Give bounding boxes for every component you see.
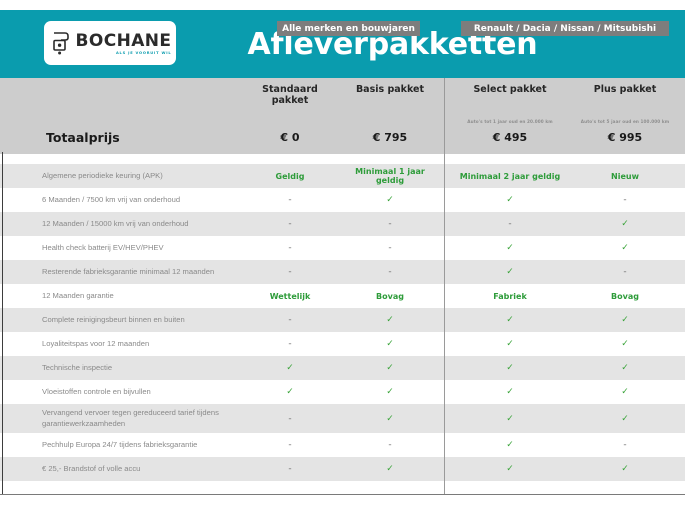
column-price: € 995: [574, 131, 676, 144]
check-icon: ✓: [455, 387, 565, 397]
table-row: Vloeistoffen controle en bijvullen✓✓✓✓: [0, 380, 685, 404]
row-label: Health check batterij EV/HEV/PHEV: [42, 243, 242, 253]
column-header-basis: Basis pakket € 795: [344, 78, 436, 154]
check-icon: ✓: [455, 339, 565, 349]
check-icon: ✓: [344, 195, 436, 205]
table-row: 12 Maanden / 15000 km vrij van onderhoud…: [0, 212, 685, 236]
table-row: € 25,- Brandstof of volle accu-✓✓✓: [0, 457, 685, 481]
dash-icon: -: [344, 440, 436, 450]
row-label: Vloeistoffen controle en bijvullen: [42, 387, 242, 397]
row-value: Wettelijk: [244, 292, 336, 301]
check-icon: ✓: [344, 363, 436, 373]
check-icon: ✓: [574, 387, 676, 397]
bochane-mark-icon: [51, 30, 71, 56]
row-label: Technische inspectie: [42, 363, 242, 373]
poster-root: BOCHANE ALS JE VOORUIT WIL Afleverpakket…: [0, 0, 685, 514]
group-divider: [444, 78, 445, 494]
column-price: € 495: [455, 131, 565, 144]
dash-icon: -: [574, 195, 676, 205]
dash-icon: -: [244, 464, 336, 474]
dash-icon: -: [344, 243, 436, 253]
check-icon: ✓: [574, 464, 676, 474]
brand-scope-all-makes: Alle merken en bouwjaren: [277, 21, 420, 36]
check-icon: ✓: [344, 339, 436, 349]
check-icon: ✓: [455, 267, 565, 277]
column-title: Basis pakket: [344, 84, 436, 95]
check-icon: ✓: [455, 195, 565, 205]
table-row: Resterende fabrieksgarantie minimaal 12 …: [0, 260, 685, 284]
table-row: Health check batterij EV/HEV/PHEV--✓✓: [0, 236, 685, 260]
column-header-plus: Plus pakket Auto's tot 5 jaar oud en 100…: [574, 78, 676, 154]
row-label: Loyaliteitspas voor 12 maanden: [42, 339, 242, 349]
row-label: 12 Maanden / 15000 km vrij van onderhoud: [42, 219, 242, 229]
table-row: Technische inspectie✓✓✓✓: [0, 356, 685, 380]
row-value: Nieuw: [574, 172, 676, 181]
check-icon: ✓: [574, 339, 676, 349]
bochane-logo: BOCHANE ALS JE VOORUIT WIL: [44, 21, 176, 65]
row-value: Minimaal 2 jaar geldig: [455, 172, 565, 181]
row-label: Complete reinigingsbeurt binnen en buite…: [42, 315, 242, 325]
check-icon: ✓: [574, 315, 676, 325]
check-icon: ✓: [455, 464, 565, 474]
table-row: Algemene periodieke keuring (APK)GeldigM…: [0, 164, 685, 188]
column-title: Plus pakket: [574, 84, 676, 95]
dash-icon: -: [244, 267, 336, 277]
table-bottom-spacer: [0, 481, 685, 504]
table-row: Loyaliteitspas voor 12 maanden-✓✓✓: [0, 332, 685, 356]
column-subtitle: Auto's tot 5 jaar oud en 100.000 km: [574, 119, 676, 124]
row-label: Vervangend vervoer tegen gereduceerd tar…: [42, 408, 242, 429]
column-price: € 0: [244, 131, 336, 144]
dash-icon: -: [244, 440, 336, 450]
check-icon: ✓: [455, 414, 565, 424]
table-row: Pechhulp Europa 24/7 tijdens fabrieksgar…: [0, 433, 685, 457]
row-label: 12 Maanden garantie: [42, 291, 242, 301]
table-row: Complete reinigingsbeurt binnen en buite…: [0, 308, 685, 332]
dash-icon: -: [344, 219, 436, 229]
check-icon: ✓: [574, 363, 676, 373]
check-icon: ✓: [455, 243, 565, 253]
check-icon: ✓: [574, 243, 676, 253]
dash-icon: -: [574, 440, 676, 450]
dash-icon: -: [455, 219, 565, 229]
dash-icon: -: [244, 414, 336, 424]
dash-icon: -: [574, 267, 676, 277]
check-icon: ✓: [344, 315, 436, 325]
dash-icon: -: [244, 339, 336, 349]
row-label: € 25,- Brandstof of volle accu: [42, 464, 242, 474]
column-title: Standaard pakket: [244, 84, 336, 106]
row-value: Fabriek: [455, 292, 565, 301]
check-icon: ✓: [574, 219, 676, 229]
table-row: 6 Maanden / 7500 km vrij van onderhoud-✓…: [0, 188, 685, 212]
row-label: Pechhulp Europa 24/7 tijdens fabrieksgar…: [42, 440, 242, 450]
row-value: Minimaal 1 jaar geldig: [344, 167, 436, 185]
package-comparison-table: Algemene periodieke keuring (APK)GeldigM…: [0, 154, 685, 504]
row-label: Resterende fabrieksgarantie minimaal 12 …: [42, 267, 242, 277]
check-icon: ✓: [455, 315, 565, 325]
table-top-spacer: [0, 154, 685, 164]
row-value: Geldig: [244, 172, 336, 181]
check-icon: ✓: [455, 363, 565, 373]
dash-icon: -: [344, 267, 436, 277]
column-price: € 795: [344, 131, 436, 144]
check-icon: ✓: [455, 440, 565, 450]
column-subtitle: Auto's tot 1 jaar oud en 20.000 km: [455, 119, 565, 124]
check-icon: ✓: [244, 387, 336, 397]
table-row: Vervangend vervoer tegen gereduceerd tar…: [0, 404, 685, 433]
column-title: Select pakket: [455, 84, 565, 95]
check-icon: ✓: [344, 414, 436, 424]
check-icon: ✓: [244, 363, 336, 373]
bottom-rule: [0, 494, 685, 495]
table-row: 12 Maanden garantieWettelijkBovagFabriek…: [0, 284, 685, 308]
dash-icon: -: [244, 315, 336, 325]
dash-icon: -: [244, 243, 336, 253]
check-icon: ✓: [574, 414, 676, 424]
dash-icon: -: [244, 219, 336, 229]
logo-wordmark: BOCHANE: [76, 33, 172, 50]
column-header-standaard: Standaard pakket € 0: [244, 78, 336, 154]
row-label: Algemene periodieke keuring (APK): [42, 171, 242, 181]
row-label: 6 Maanden / 7500 km vrij van onderhoud: [42, 195, 242, 205]
total-price-label: Totaalprijs: [46, 130, 120, 145]
left-edge-rule: [2, 152, 3, 494]
check-icon: ✓: [344, 387, 436, 397]
column-header-select: Select pakket Auto's tot 1 jaar oud en 2…: [455, 78, 565, 154]
row-value: Bovag: [574, 292, 676, 301]
brand-scope-renault-group: Renault / Dacia / Nissan / Mitsubishi: [461, 21, 669, 36]
dash-icon: -: [244, 195, 336, 205]
check-icon: ✓: [344, 464, 436, 474]
row-value: Bovag: [344, 292, 436, 301]
logo-tagline: ALS JE VOORUIT WIL: [116, 52, 172, 56]
